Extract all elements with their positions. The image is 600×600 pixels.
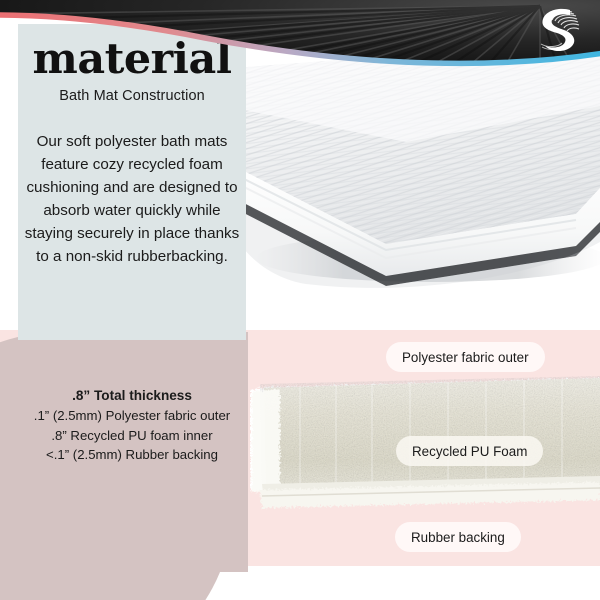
spec-line-foam: .8” Recycled PU foam inner: [14, 426, 250, 446]
spec-heading: .8” Total thickness: [14, 386, 250, 406]
page-subtitle: Bath Mat Construction: [18, 88, 246, 104]
specs-block: .8” Total thickness .1” (2.5mm) Polyeste…: [14, 386, 250, 465]
spec-line-rubber: <.1” (2.5mm) Rubber backing: [14, 445, 250, 465]
brand-logo: [530, 4, 586, 56]
infographic-canvas: material Bath Mat Construction Our soft …: [0, 0, 600, 600]
label-recycled-pu-foam: Recycled PU Foam: [396, 436, 543, 466]
description-text: Our soft polyester bath mats feature coz…: [20, 130, 244, 269]
label-polyester-fabric-outer: Polyester fabric outer: [386, 342, 545, 372]
stylized-s-swoosh-icon: [530, 4, 586, 56]
bath-mat-photo: [246, 46, 600, 330]
label-rubber-backing: Rubber backing: [395, 522, 521, 552]
spec-line-outer: .1” (2.5mm) Polyester fabric outer: [14, 406, 250, 426]
top-banner: [0, 0, 600, 80]
